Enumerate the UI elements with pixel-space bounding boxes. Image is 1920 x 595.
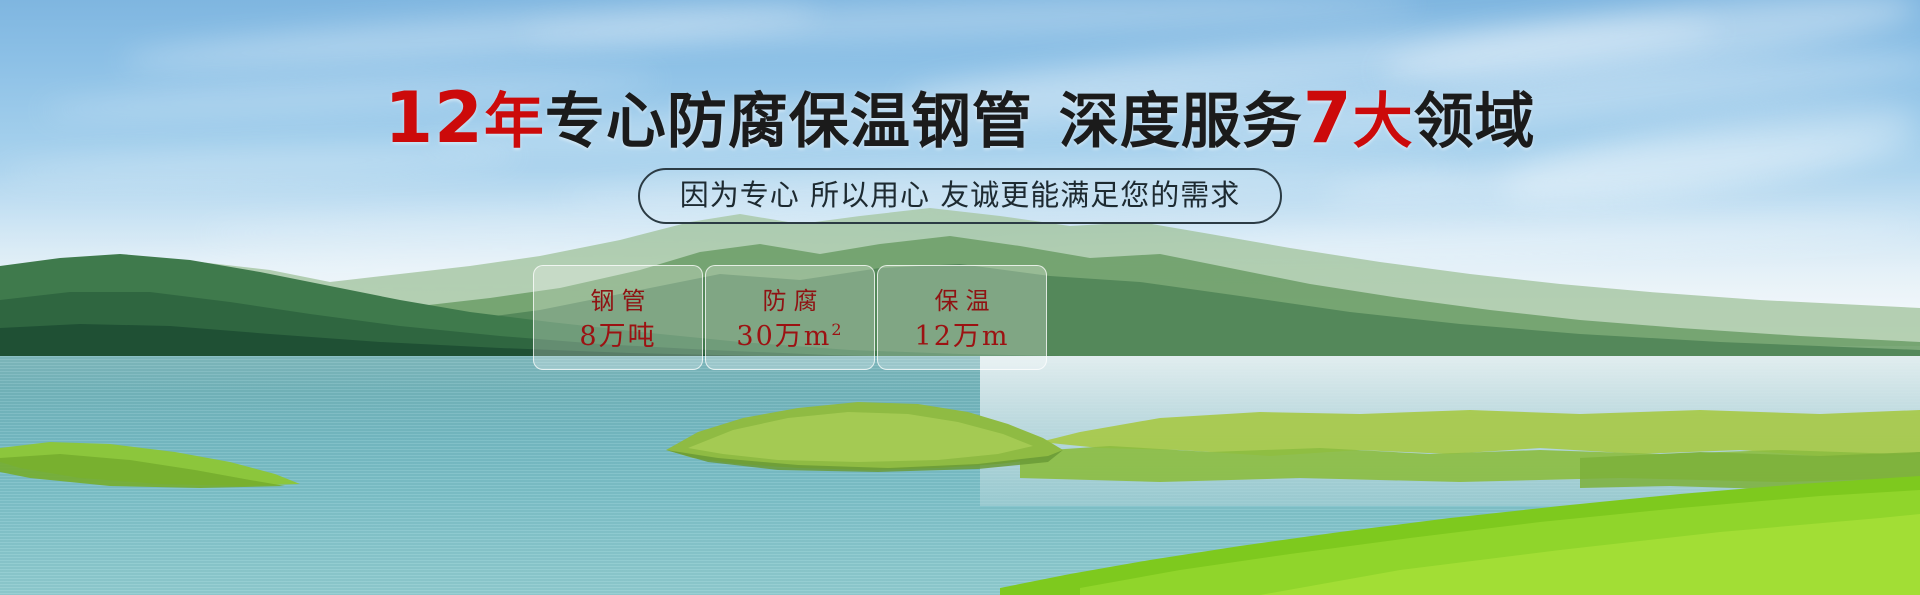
stat-card-steel-pipe[interactable]: 钢管 8万吨 (533, 265, 703, 370)
grass-island (648, 392, 1078, 472)
stat-card-label: 钢管 (584, 284, 653, 318)
headline-years-unit: 年 (484, 87, 545, 157)
headline-fields-unit: 大 (1353, 87, 1414, 157)
subtitle-pill: 因为专心 所以用心 友诚更能满足您的需求 (638, 168, 1282, 224)
subtitle-container: 因为专心 所以用心 友诚更能满足您的需求 (0, 168, 1920, 224)
stat-card-anticorrosion[interactable]: 防腐 30万m2 (705, 265, 875, 370)
headline-years-number: 12 (384, 77, 483, 159)
headline-fields-number: 7 (1303, 77, 1353, 159)
page-title: 12年专心防腐保温钢管深度服务7大领域 (0, 84, 1920, 156)
stat-card-value-text: 12万m (915, 321, 1010, 352)
stat-cards: 钢管 8万吨 防腐 30万m2 保温 12万m (533, 265, 1047, 370)
stat-card-value: 12万m (915, 318, 1010, 356)
stat-card-insulation[interactable]: 保温 12万m (877, 265, 1047, 370)
headline-segment-fields: 领域 (1414, 87, 1536, 157)
stat-card-value-text: 8万吨 (579, 321, 656, 352)
headline-segment-service: 深度服务 (1059, 87, 1303, 157)
hero-banner: 12年专心防腐保温钢管深度服务7大领域 因为专心 所以用心 友诚更能满足您的需求… (0, 0, 1920, 595)
stat-card-label: 防腐 (756, 284, 825, 318)
stat-card-value: 8万吨 (579, 318, 656, 356)
foreground-grass (1000, 470, 1920, 595)
stat-card-value-text: 30万m (736, 321, 831, 352)
stat-card-label: 保温 (928, 284, 997, 318)
headline-segment-focus: 专心防腐保温钢管 (545, 87, 1033, 157)
stat-card-value: 30万m2 (736, 318, 843, 356)
left-grass-tuft (0, 430, 340, 490)
stat-card-value-superscript: 2 (831, 320, 843, 339)
